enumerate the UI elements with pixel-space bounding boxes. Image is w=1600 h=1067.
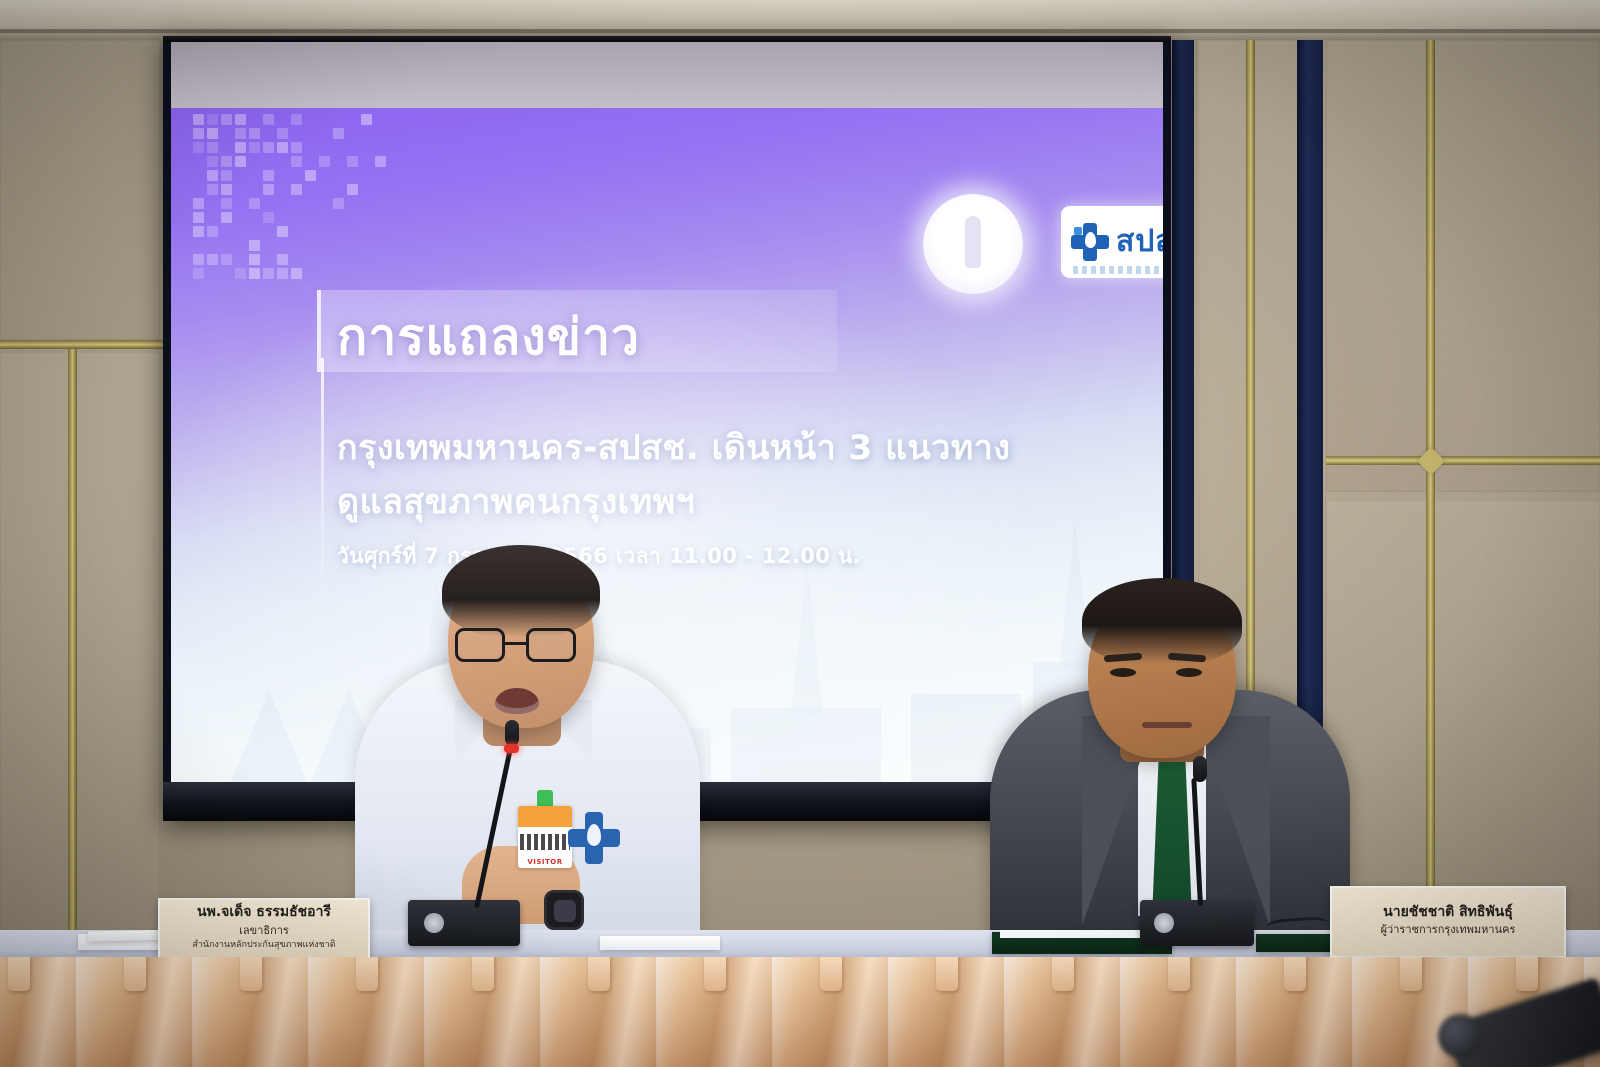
eyeglasses-lens-left <box>455 628 505 662</box>
medical-cross-icon <box>1071 223 1109 261</box>
nameplate-left-name: นพ.จเด็จ ธรรมธัชอารี <box>197 904 331 922</box>
foreground-microphone-head <box>1438 1014 1482 1058</box>
nhso-cross-patch-icon <box>568 812 620 864</box>
person-right-mouth <box>1142 722 1192 728</box>
nhso-logo-text: สปสช <box>1116 227 1163 257</box>
microphone-logo-icon <box>424 913 444 933</box>
skirt-pleat-tab <box>240 957 262 991</box>
nameplate-left-org: สำนักงานหลักประกันสุขภาพแห่งชาติ <box>192 940 335 952</box>
pixel-square-decoration <box>193 114 393 274</box>
screen-surface: สปสช การแถลงข่าว กรุงเทพมหานคร-สปสช. เดิ… <box>171 42 1163 782</box>
nameplate-right-name: นายชัชชาติ สิทธิพันธุ์ <box>1383 904 1513 922</box>
microphone-capsule-left <box>505 720 519 746</box>
stacked-documents <box>600 936 720 950</box>
folder-papers <box>1000 930 1160 938</box>
person-right-eye-right <box>1176 668 1202 677</box>
person-left-hair <box>442 545 600 637</box>
ceiling-edge-line <box>0 29 1600 33</box>
person-right-hair <box>1082 578 1242 664</box>
suit-lapel-right <box>1196 716 1270 926</box>
skirt-pleat-tab <box>1516 957 1538 991</box>
skirt-pleat-tab <box>1052 957 1074 991</box>
eyeglasses-bridge <box>504 642 528 645</box>
slide-headline-line-2: ดูแลสุขภาพคนกรุงเทพฯ <box>337 474 695 528</box>
microphone-base-right <box>1140 900 1254 946</box>
visitor-badge-label: VISITOR <box>518 858 572 866</box>
visitor-badge: VISITOR <box>518 806 572 868</box>
slide-headline-line-1: กรุงเทพมหานคร-สปสช. เดินหน้า 3 แนวทาง <box>337 420 1010 474</box>
skirt-pleat-tab <box>472 957 494 991</box>
skirt-pleat-tab <box>936 957 958 991</box>
microphone-base-left <box>408 900 520 946</box>
nameplate-right-role: ผู้ว่าราชการกรุงเทพมหานคร <box>1381 923 1516 938</box>
presentation-slide: สปสช การแถลงข่าว กรุงเทพมหานคร-สปสช. เดิ… <box>171 108 1163 782</box>
slide-title: การแถลงข่าว <box>337 298 640 377</box>
skirt-pleat-tab <box>588 957 610 991</box>
person-right-eye-left <box>1110 668 1136 677</box>
wrist-watch <box>544 890 584 930</box>
table-skirt <box>0 957 1600 1067</box>
ceiling <box>0 0 1600 40</box>
skirt-pleat-tab <box>356 957 378 991</box>
skirt-pleat-tab <box>124 957 146 991</box>
screen-blank-area <box>171 42 1163 108</box>
microphone-capsule-right <box>1193 756 1207 782</box>
nameplate-left-role: เลขาธิการ <box>239 924 289 939</box>
skirt-pleat-tab <box>704 957 726 991</box>
skirt-pleat-tab <box>1284 957 1306 991</box>
nameplate-right: นายชัชชาติ สิทธิพันธุ์ ผู้ว่าราชการกรุงเ… <box>1330 886 1566 958</box>
nhso-logo-subtext <box>1073 266 1163 274</box>
microphone-logo-icon <box>1154 913 1174 933</box>
skirt-pleat-tab <box>1400 957 1422 991</box>
eyeglasses-lens-right <box>526 628 576 662</box>
skirt-pleat-tab <box>820 957 842 991</box>
bangkok-seal-emblem-icon <box>923 194 1023 294</box>
screenshot-root: สปสช การแถลงข่าว กรุงเทพมหานคร-สปสช. เดิ… <box>0 0 1600 1067</box>
nameplate-left: นพ.จเด็จ ธรรมธัชอารี เลขาธิการ สำนักงานห… <box>158 898 370 960</box>
skirt-pleat-tab <box>8 957 30 991</box>
skirt-pleat-tab <box>1168 957 1190 991</box>
person-left-mouth <box>495 688 539 714</box>
nhso-logo: สปสช <box>1061 206 1163 278</box>
microphone-active-light-left <box>504 744 519 753</box>
